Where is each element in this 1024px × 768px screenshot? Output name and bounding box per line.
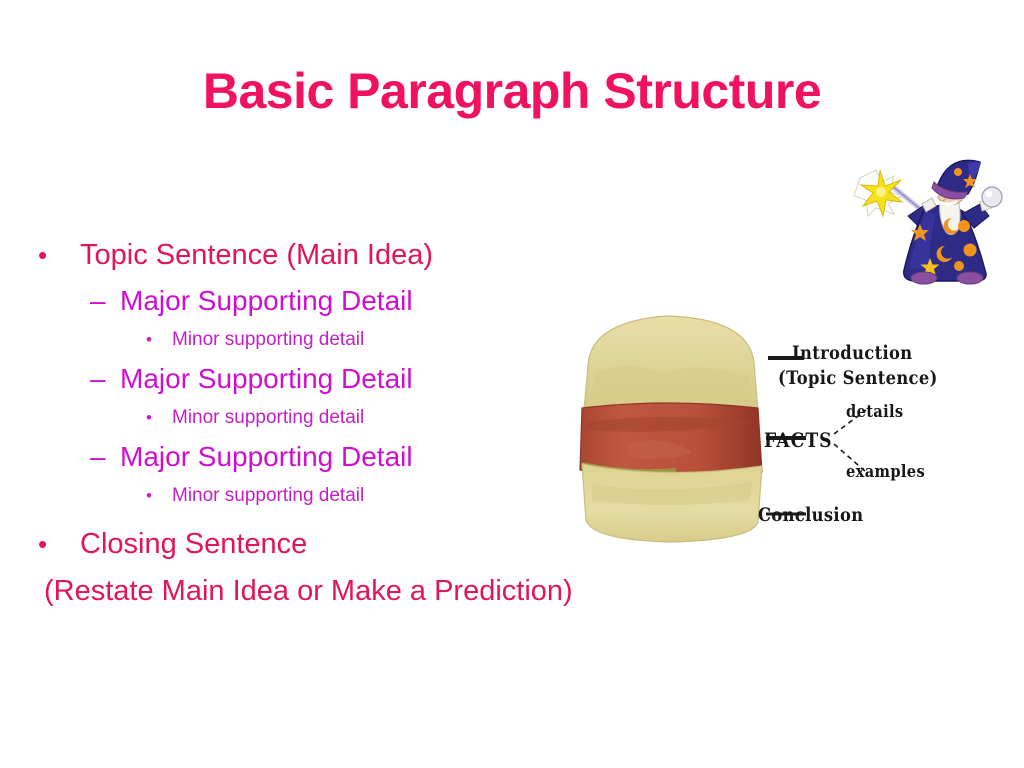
list-item-label: Major Supporting Detail — [120, 434, 413, 479]
diagram-label-examples: examples — [846, 462, 925, 482]
list-item-label: Major Supporting Detail — [120, 278, 413, 323]
list-item-label: Minor supporting detail — [172, 479, 364, 512]
list-item-label: Minor supporting detail — [172, 401, 364, 434]
list-item-major-detail-2: – Major Supporting Detail — [36, 356, 596, 401]
paragraph-outline-list: • Topic Sentence (Main Idea) – Major Sup… — [36, 232, 596, 615]
list-item-minor-detail-1: • Minor supporting detail — [36, 323, 596, 356]
wizard-figure-icon — [904, 160, 1002, 284]
list-item-minor-detail-2: • Minor supporting detail — [36, 401, 596, 434]
hamburger-clipart — [580, 316, 762, 542]
list-item-label: Closing Sentence — [80, 521, 307, 567]
list-item-label: Major Supporting Detail — [120, 356, 413, 401]
dash-bullet-icon: – — [90, 434, 120, 479]
list-item-label: Topic Sentence (Main Idea) — [80, 232, 433, 278]
bullet-icon: • — [146, 401, 172, 434]
list-item-minor-detail-3: • Minor supporting detail — [36, 479, 596, 512]
dash-bullet-icon: – — [90, 356, 120, 401]
wizard-clipart — [846, 158, 1006, 290]
page-title: Basic Paragraph Structure — [0, 62, 1024, 120]
dash-bullet-icon: – — [90, 278, 120, 323]
hamburger-paragraph-diagram: Introduction (Topic Sentence) FACTS deta… — [566, 304, 1016, 554]
list-item-major-detail-3: – Major Supporting Detail — [36, 434, 596, 479]
list-item-label: Minor supporting detail — [172, 323, 364, 356]
diagram-label-introduction: Introduction — [792, 342, 913, 364]
diagram-label-facts: FACTS — [764, 428, 833, 452]
bullet-icon: • — [146, 479, 172, 512]
diagram-label-details: details — [846, 402, 903, 422]
list-item-closing-sentence: • Closing Sentence — [36, 521, 596, 567]
bullet-icon: • — [38, 232, 80, 278]
bullet-icon: • — [146, 323, 172, 356]
spacer — [36, 512, 596, 521]
list-item-major-detail-1: – Major Supporting Detail — [36, 278, 596, 323]
bullet-icon: • — [38, 521, 80, 567]
wizard-wand-icon — [854, 170, 924, 216]
list-item-topic-sentence: • Topic Sentence (Main Idea) — [36, 232, 596, 278]
diagram-label-conclusion: Conclusion — [758, 504, 863, 526]
closing-restatement-text: (Restate Main Idea or Make a Prediction) — [36, 567, 596, 615]
slide-canvas: Basic Paragraph Structure • Topic Senten… — [0, 0, 1024, 768]
diagram-label-topic-sentence: (Topic Sentence) — [778, 367, 938, 389]
